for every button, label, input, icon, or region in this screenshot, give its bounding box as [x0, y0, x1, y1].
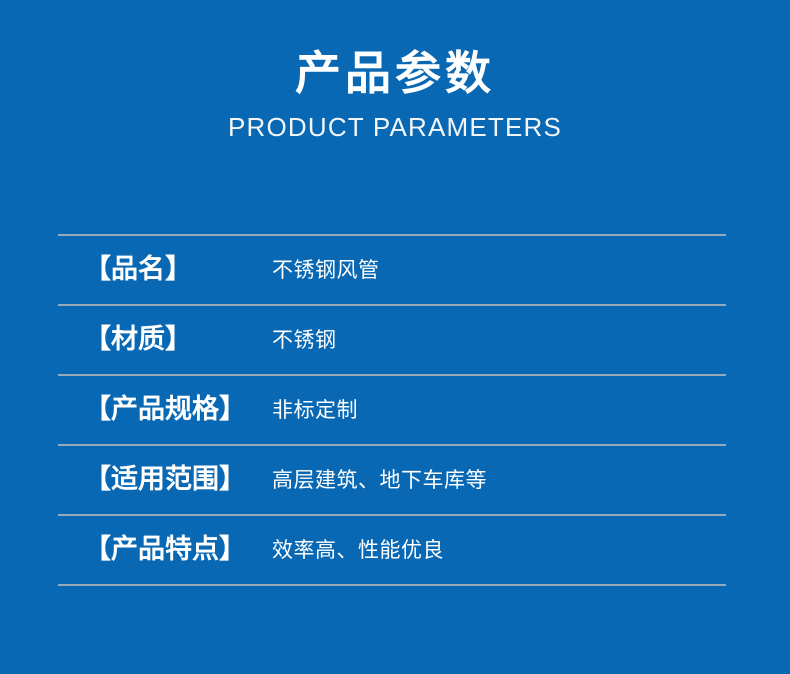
spec-table: 【品名】 不锈钢风管 【材质】 不锈钢 【产品规格】 非标定制 【适用范围】 高…	[58, 234, 726, 586]
spec-value-material: 不锈钢	[250, 326, 726, 354]
spec-value-specification: 非标定制	[250, 396, 726, 424]
spec-value-product-features: 效率高、性能优良	[250, 536, 726, 564]
spec-value-application-scope: 高层建筑、地下车库等	[250, 466, 726, 494]
spec-label-material: 【材质】	[58, 324, 250, 356]
spec-label-application-scope: 【适用范围】	[58, 464, 250, 496]
table-row: 【产品特点】 效率高、性能优良	[58, 516, 726, 586]
page-subtitle: PRODUCT PARAMETERS	[0, 102, 790, 143]
table-row: 【品名】 不锈钢风管	[58, 236, 726, 306]
table-row: 【适用范围】 高层建筑、地下车库等	[58, 446, 726, 516]
page-title: 产品参数	[0, 0, 790, 102]
spec-label-specification: 【产品规格】	[58, 394, 250, 426]
product-parameters-page: 产品参数 PRODUCT PARAMETERS 【品名】 不锈钢风管 【材质】 …	[0, 0, 790, 674]
spec-value-product-name: 不锈钢风管	[250, 256, 726, 284]
spec-label-product-name: 【品名】	[58, 254, 250, 286]
table-row: 【产品规格】 非标定制	[58, 376, 726, 446]
spec-label-product-features: 【产品特点】	[58, 534, 250, 566]
table-row: 【材质】 不锈钢	[58, 306, 726, 376]
page-header: 产品参数 PRODUCT PARAMETERS	[0, 0, 790, 143]
